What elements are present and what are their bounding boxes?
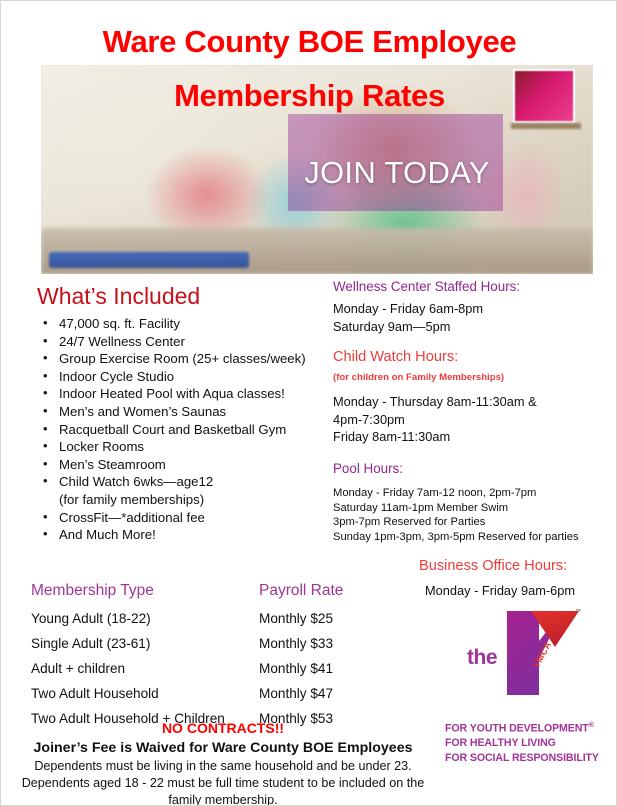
cell-membership-type: Two Adult Household	[31, 685, 259, 703]
mission-line-1: FOR YOUTH DEVELOPMENT®	[445, 719, 617, 736]
table-header-row: Membership Type Payroll Rate	[31, 581, 431, 606]
footer-block: NO CONTRACTS!! Joiner’s Fee is Waived fo…	[9, 719, 437, 806]
ymca-mission-statement: FOR YOUTH DEVELOPMENT® FOR HEALTHY LIVIN…	[445, 719, 617, 765]
list-item: 24/7 Wellness Center	[37, 333, 337, 351]
cell-payroll-rate: Monthly $41	[259, 660, 429, 678]
child-watch-hours-block: Child Watch Hours: (for children on Fami…	[333, 348, 617, 446]
registered-mark: ®	[589, 722, 594, 729]
list-item: Racquetball Court and Basketball Gym	[37, 421, 337, 439]
table-row: Adult + children Monthly $41	[31, 660, 431, 685]
join-today-label: JOIN TODAY	[291, 156, 503, 190]
list-item: Locker Rooms	[37, 438, 337, 456]
table-row: Young Adult (18-22) Monthly $25	[31, 610, 431, 635]
wellness-hours-heading: Wellness Center Staffed Hours:	[333, 278, 617, 295]
child-watch-line: Monday - Thursday 8am-11:30am &	[333, 393, 617, 411]
no-contracts-text: NO CONTRACTS!!	[9, 719, 437, 737]
photo-wall-shelf	[511, 123, 581, 129]
membership-rates-table: Membership Type Payroll Rate Young Adult…	[31, 581, 431, 735]
child-watch-heading: Child Watch Hours:	[333, 348, 617, 366]
list-item: CrossFit—*additional fee	[37, 509, 337, 527]
footer-note-line: Dependents aged 18 - 22 must be full tim…	[9, 775, 437, 792]
pool-hours-line: Monday - Friday 7am-12 noon, 2pm-7pm	[333, 486, 617, 501]
photo-exercise-mat	[49, 252, 249, 268]
pool-hours-line: Sunday 1pm-3pm, 3pm-5pm Reserved for par…	[333, 530, 617, 545]
cell-payroll-rate: Monthly $33	[259, 635, 429, 653]
list-item: Men’s Steamroom	[37, 456, 337, 474]
list-item: 47,000 sq. ft. Facility	[37, 315, 337, 333]
photo-wall-art	[513, 69, 575, 123]
list-item: Indoor Cycle Studio	[37, 368, 337, 386]
cell-payroll-rate: Monthly $47	[259, 685, 429, 703]
list-item: Group Exercise Room (25+ classes/week)	[37, 350, 337, 368]
wellness-center-hours-block: Wellness Center Staffed Hours: Monday - …	[333, 278, 617, 335]
pool-hours-line: Saturday 11am-1pm Member Swim	[333, 501, 617, 516]
ymca-logo: the YMCA ™	[467, 607, 587, 699]
column-header-membership-type: Membership Type	[31, 581, 259, 600]
cell-payroll-rate: Monthly $25	[259, 610, 429, 628]
footer-note-line: family membership.	[9, 792, 437, 806]
table-row: Single Adult (23-61) Monthly $33	[31, 635, 431, 660]
list-item: Indoor Heated Pool with Aqua classes!	[37, 385, 337, 403]
wellness-hours-line: Monday - Friday 6am-8pm	[333, 300, 617, 318]
child-watch-line: Friday 8am-11:30am	[333, 428, 617, 446]
cell-membership-type: Young Adult (18-22)	[31, 610, 259, 628]
table-row: Two Adult Household Monthly $47	[31, 685, 431, 710]
pool-hours-block: Pool Hours: Monday - Friday 7am-12 noon,…	[333, 460, 617, 544]
footer-note-line: Dependents must be living in the same ho…	[9, 758, 437, 775]
cell-membership-type: Adult + children	[31, 660, 259, 678]
ymca-the-text: the	[467, 647, 497, 669]
flyer-page: Ware County BOE Employee Membership Rate…	[0, 0, 617, 806]
list-item: Men’s and Women’s Saunas	[37, 403, 337, 421]
list-item: Child Watch 6wks—age12	[37, 473, 337, 491]
mission-line-2: FOR HEALTHY LIVING	[445, 736, 617, 751]
title-line-1: Ware County BOE Employee	[1, 17, 617, 67]
mission-line-3: FOR SOCIAL RESPONSIBILITY	[445, 751, 617, 766]
child-watch-line: 4pm-7:30pm	[333, 411, 617, 429]
child-watch-subheading: (for children on Family Memberships)	[333, 371, 617, 384]
business-office-hours-block: Business Office Hours: Monday - Friday 9…	[419, 557, 617, 600]
pool-hours-line: 3pm-7pm Reserved for Parties	[333, 515, 617, 530]
column-header-payroll-rate: Payroll Rate	[259, 581, 429, 600]
pool-hours-heading: Pool Hours:	[333, 460, 617, 477]
cell-membership-type: Single Adult (23-61)	[31, 635, 259, 653]
whats-included-heading: What’s Included	[37, 282, 200, 310]
business-office-heading: Business Office Hours:	[419, 557, 617, 575]
trademark-symbol: ™	[575, 609, 581, 615]
joiner-fee-text: Joiner’s Fee is Waived for Ware County B…	[9, 738, 437, 758]
whats-included-list: 47,000 sq. ft. Facility 24/7 Wellness Ce…	[37, 315, 337, 544]
wellness-hours-line: Saturday 9am—5pm	[333, 318, 617, 336]
business-office-line: Monday - Friday 9am-6pm	[425, 582, 617, 600]
list-item-sub-note: (for family memberships)	[37, 491, 337, 509]
list-item: And Much More!	[37, 526, 337, 544]
